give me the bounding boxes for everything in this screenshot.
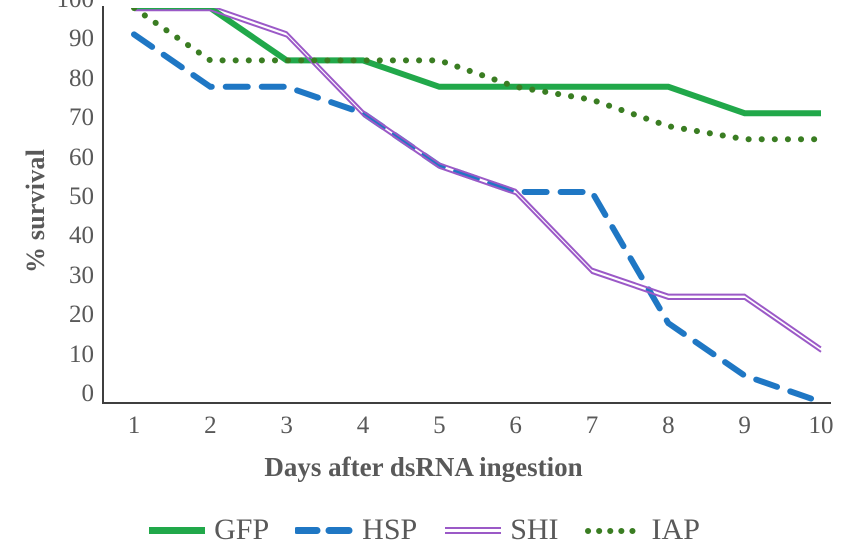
legend-item-gfp[interactable]: GFP xyxy=(147,513,269,547)
x-tick-label: 4 xyxy=(333,412,393,440)
x-axis-title: Days after dsRNA ingestion xyxy=(0,452,847,483)
x-tick-label: 5 xyxy=(409,412,469,440)
legend-label: SHI xyxy=(510,513,558,547)
y-tick-label: 20 xyxy=(32,302,94,327)
x-tick-label: 1 xyxy=(104,412,164,440)
double-purple-line-swatch xyxy=(443,522,503,538)
x-tick-label: 8 xyxy=(638,412,698,440)
legend-label: HSP xyxy=(362,513,417,547)
x-tick-label: 3 xyxy=(257,412,317,440)
y-tick-label: 50 xyxy=(32,184,94,209)
y-tick-label: 0 xyxy=(32,381,94,406)
x-tick-label: 2 xyxy=(180,412,240,440)
legend-item-shi[interactable]: SHI xyxy=(443,513,558,547)
legend-item-iap[interactable]: IAP xyxy=(585,513,700,547)
x-tick-label: 9 xyxy=(715,412,775,440)
y-tick-label: 100 xyxy=(32,0,94,12)
y-tick-label: 60 xyxy=(32,145,94,170)
x-tick-label: 7 xyxy=(562,412,622,440)
plot-area xyxy=(102,8,829,402)
legend-label: GFP xyxy=(214,513,269,547)
survival-chart: % survival 1009080706050403020100 123456… xyxy=(0,0,847,555)
legend-label: IAP xyxy=(652,513,700,547)
y-tick-label: 80 xyxy=(32,66,94,91)
y-tick-label: 10 xyxy=(32,342,94,367)
x-tick-label: 6 xyxy=(486,412,546,440)
chart-legend: GFPHSPSHIIAP xyxy=(0,508,847,552)
x-tick-label: 10 xyxy=(791,412,847,440)
y-tick-label: 90 xyxy=(32,26,94,51)
series-lines xyxy=(102,8,829,402)
y-tick-label: 30 xyxy=(32,263,94,288)
solid-green-line-swatch xyxy=(147,522,207,538)
x-axis-tick-labels: 12345678910 xyxy=(102,412,829,446)
y-tick-label: 70 xyxy=(32,105,94,130)
y-tick-label: 40 xyxy=(32,223,94,248)
legend-item-hsp[interactable]: HSP xyxy=(295,513,417,547)
dashed-blue-line-swatch xyxy=(295,522,355,538)
dotted-darkgreen-line-swatch xyxy=(585,522,645,538)
x-axis-line xyxy=(102,402,831,404)
y-axis-tick-labels: 1009080706050403020100 xyxy=(32,0,94,410)
